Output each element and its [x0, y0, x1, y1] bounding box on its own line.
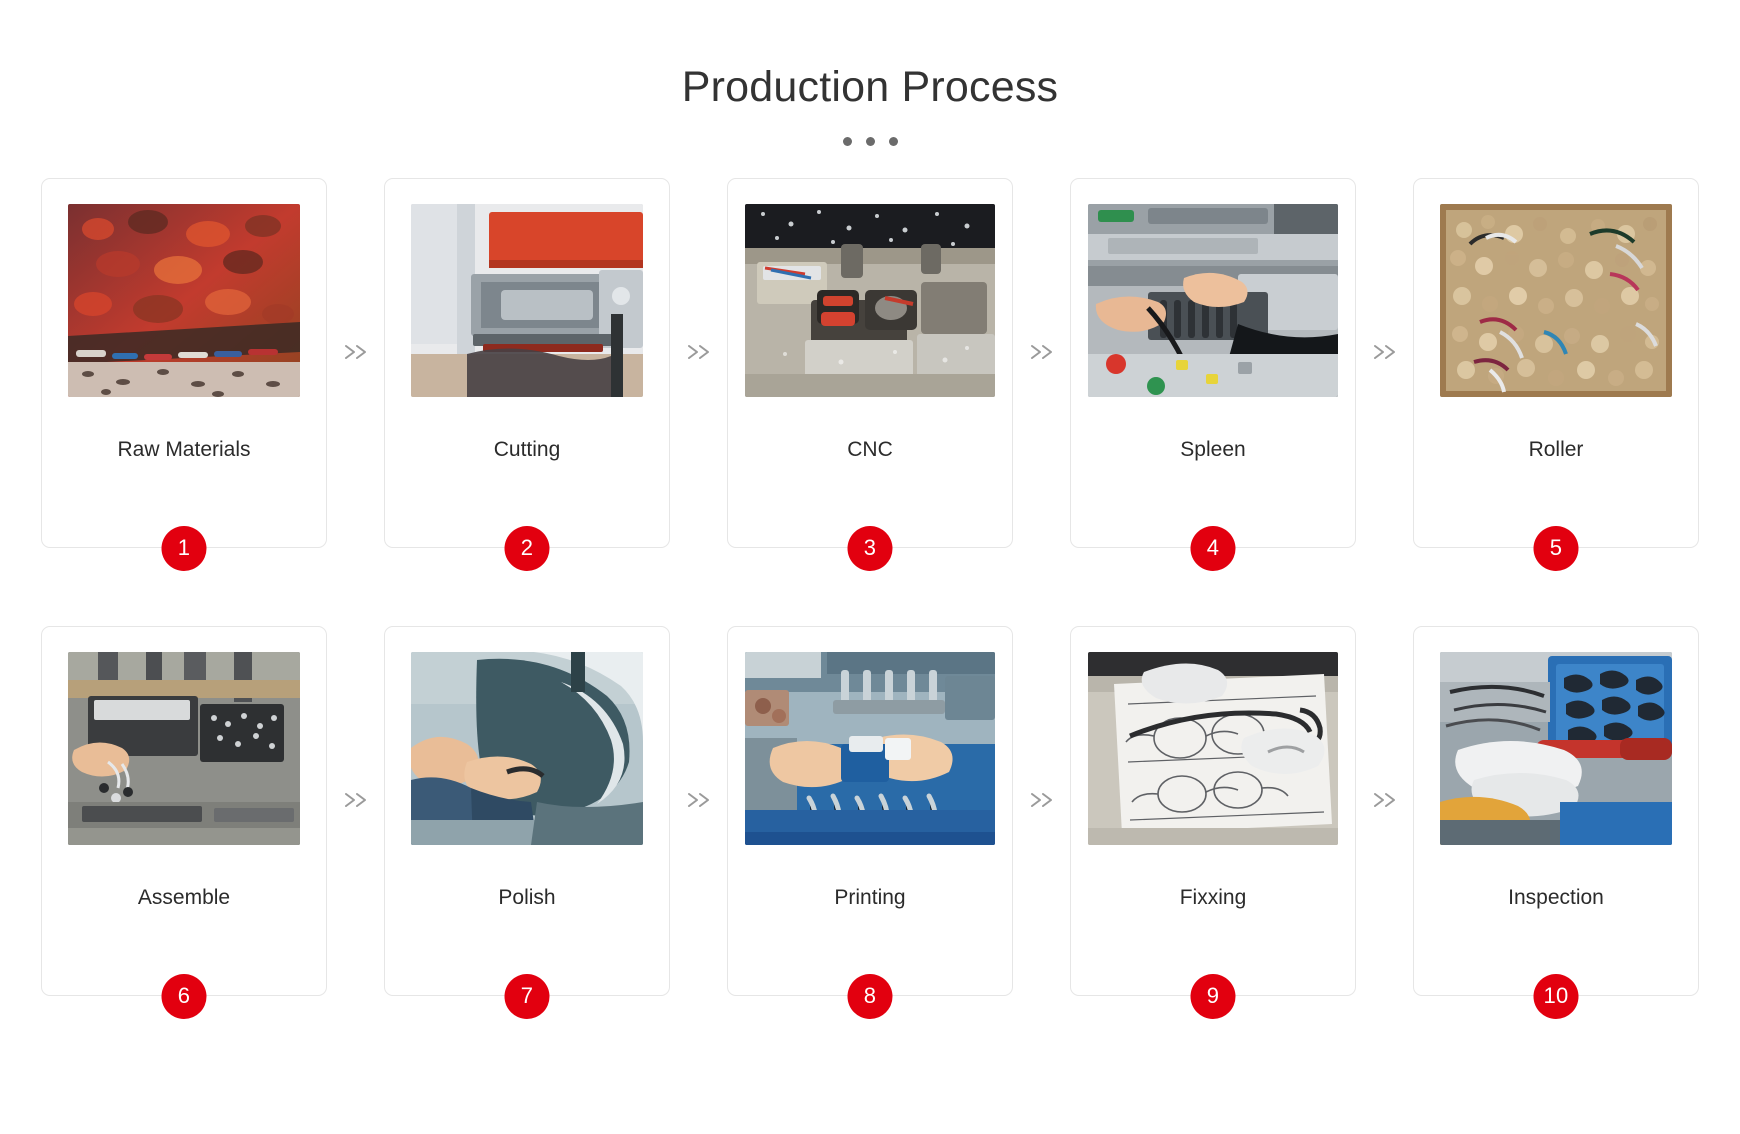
step-label: Assemble [130, 885, 238, 910]
roller-photo [1440, 204, 1672, 397]
double-chevron-right-icon [327, 626, 384, 996]
double-chevron-right-icon [670, 178, 727, 548]
step-number-badge: 4 [1191, 526, 1236, 571]
decoration-dot [889, 137, 898, 146]
process-step-card[interactable]: CNC 3 [727, 178, 1013, 548]
page-title: Production Process [0, 62, 1740, 114]
double-chevron-right-icon [1013, 178, 1070, 548]
process-step-card[interactable]: Roller 5 [1413, 178, 1699, 548]
inspection-photo-graphic [1440, 652, 1672, 845]
cutting-photo [411, 204, 643, 397]
polish-photo [411, 652, 643, 845]
step-number-badge: 6 [162, 974, 207, 1019]
step-number-badge: 7 [505, 974, 550, 1019]
double-chevron-right-icon [1356, 178, 1413, 548]
step-number-badge: 1 [162, 526, 207, 571]
spleen-photo [1088, 204, 1338, 397]
page-header: Production Process [0, 0, 1740, 148]
process-step-card[interactable]: Cutting 2 [384, 178, 670, 548]
step-label: Raw Materials [109, 437, 258, 462]
double-chevron-right-icon [1356, 626, 1413, 996]
step-label: Polish [490, 885, 563, 910]
fixxing-photo-graphic [1088, 652, 1338, 845]
step-number-badge: 9 [1191, 974, 1236, 1019]
printing-photo [745, 652, 995, 845]
step-number-badge: 8 [848, 974, 893, 1019]
step-label: CNC [839, 437, 901, 462]
raw-materials-photo-graphic [68, 204, 300, 397]
process-steps-container: Raw Materials 1 [0, 178, 1740, 996]
production-process-page: Production Process [0, 0, 1740, 1134]
cnc-photo-graphic [745, 204, 995, 397]
printing-photo-graphic [745, 652, 995, 845]
process-step-card[interactable]: Raw Materials 1 [41, 178, 327, 548]
raw-materials-photo [68, 204, 300, 397]
cnc-photo [745, 204, 995, 397]
roller-photo-graphic [1440, 204, 1672, 397]
assemble-photo-graphic [68, 652, 300, 845]
double-chevron-right-icon [670, 626, 727, 996]
step-label: Roller [1521, 437, 1592, 462]
step-number-badge: 3 [848, 526, 893, 571]
process-row-2: Assemble 6 [90, 626, 1650, 996]
step-number-badge: 10 [1534, 974, 1579, 1019]
process-step-card[interactable]: Spleen 4 [1070, 178, 1356, 548]
step-label: Cutting [486, 437, 569, 462]
step-number-badge: 2 [505, 526, 550, 571]
step-label: Inspection [1500, 885, 1612, 910]
decoration-dot [866, 137, 875, 146]
double-chevron-right-icon [1013, 626, 1070, 996]
process-step-card[interactable]: Polish 7 [384, 626, 670, 996]
step-label: Fixxing [1172, 885, 1255, 910]
cutting-photo-graphic [411, 204, 643, 397]
fixxing-photo [1088, 652, 1338, 845]
step-label: Spleen [1172, 437, 1253, 462]
process-row-1: Raw Materials 1 [90, 178, 1650, 548]
polish-photo-graphic [411, 652, 643, 845]
step-number-badge: 5 [1534, 526, 1579, 571]
title-decoration-dots [0, 136, 1740, 148]
double-chevron-right-icon [327, 178, 384, 548]
step-label: Printing [826, 885, 913, 910]
assemble-photo [68, 652, 300, 845]
process-step-card[interactable]: Assemble 6 [41, 626, 327, 996]
process-step-card[interactable]: Printing 8 [727, 626, 1013, 996]
decoration-dot [843, 137, 852, 146]
process-step-card[interactable]: Fixxing 9 [1070, 626, 1356, 996]
process-step-card[interactable]: Inspection 10 [1413, 626, 1699, 996]
spleen-photo-graphic [1088, 204, 1338, 397]
inspection-photo [1440, 652, 1672, 845]
